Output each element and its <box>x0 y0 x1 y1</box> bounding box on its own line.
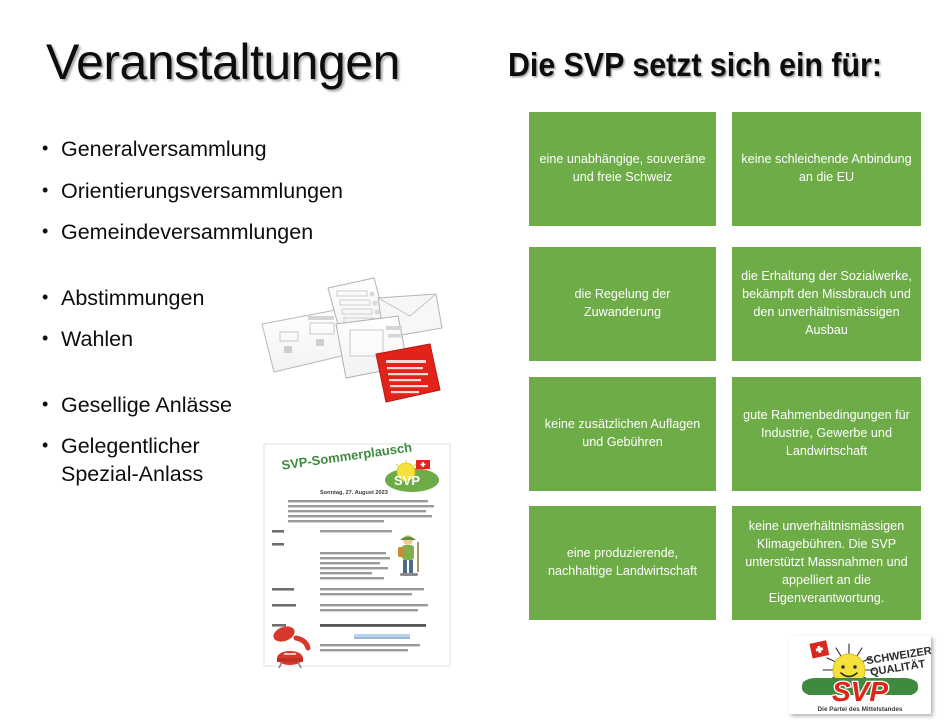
box-keine-klimagebuehren: keine unverhältnismässigen Klimagebühren… <box>732 506 921 620</box>
bullet-dot-icon: • <box>42 219 61 244</box>
list-item-label: Gemeindeversammlungen <box>61 219 472 247</box>
bullet-dot-icon: • <box>42 178 61 203</box>
box-nachhaltige-landwirtschaft: eine produzierende, nachhaltige Landwirt… <box>529 506 716 620</box>
box-text: keine unverhältnismässigen Klimagebühren… <box>740 518 913 607</box>
list-item: • Gelegentlicher Spezial-Anlass <box>42 433 242 488</box>
box-gute-rahmenbedingungen: gute Rahmenbedingungen für Industrie, Ge… <box>732 377 921 491</box>
page-title-right: Die SVP setzt sich ein für: <box>508 48 904 83</box>
svp-logo: SCHWEIZER QUALITÄT SVP Die Partei des Mi… <box>789 636 931 714</box>
bullet-dot-icon: • <box>42 326 61 351</box>
ballot-documents-illustration: Abstimmungsunterlagen: weisse Stimmzette… <box>258 268 454 406</box>
box-regelung-zuwanderung: die Regelung der Zuwanderung <box>529 247 716 361</box>
bullet-dot-icon: • <box>42 136 61 161</box>
list-item: • Gemeindeversammlungen <box>42 219 472 247</box>
box-text: keine zusätzlichen Auflagen und Gebühren <box>537 416 708 452</box>
svp-positions-grid: eine unabhängige, souveräne und freie Sc… <box>529 112 921 620</box>
box-erhaltung-sozialwerke: die Erhaltung der Sozialwerke, bekämpft … <box>732 247 921 361</box>
box-text: die Regelung der Zuwanderung <box>537 286 708 322</box>
svg-text:Sonntag, 27. August 2023: Sonntag, 27. August 2023 <box>320 490 388 496</box>
list-item: • Orientierungsversammlungen <box>42 178 472 206</box>
svg-text:SVP: SVP <box>394 473 420 488</box>
logo-party-initials: SVP <box>832 676 888 707</box>
box-text: eine produzierende, nachhaltige Landwirt… <box>537 545 708 581</box>
list-item: • Generalversammlung <box>42 136 472 164</box>
box-keine-eu-anbindung: keine schleichende Anbindung an die EU <box>732 112 921 226</box>
bullet-dot-icon: • <box>42 392 61 417</box>
list-item-label: Gelegentlicher Spezial-Anlass <box>61 433 242 488</box>
bullet-dot-icon: • <box>42 433 61 458</box>
bullet-group-versammlungen: • Generalversammlung • Orientierungsvers… <box>42 136 472 247</box>
bullet-dot-icon: • <box>42 285 61 310</box>
box-keine-auflagen-gebuehren: keine zusätzlichen Auflagen und Gebühren <box>529 377 716 491</box>
svp-sommerplausch-flyer: SVP-Sommerplausch SVP Sonntag, 27 <box>258 438 456 668</box>
list-item-label: Generalversammlung <box>61 136 472 164</box>
box-text: eine unabhängige, souveräne und freie Sc… <box>537 151 708 187</box>
list-item-label: Orientierungsversammlungen <box>61 178 472 206</box>
box-text: die Erhaltung der Sozialwerke, bekämpft … <box>740 268 913 340</box>
box-unabhaengige-schweiz: eine unabhängige, souveräne und freie Sc… <box>529 112 716 226</box>
logo-tagline: Die Partei des Mittelstandes <box>818 706 903 713</box>
box-text: gute Rahmenbedingungen für Industrie, Ge… <box>740 407 913 461</box>
page-title-left: Veranstaltungen <box>46 36 400 89</box>
slide-canvas: Veranstaltungen Die SVP setzt sich ein f… <box>0 0 946 720</box>
box-text: keine schleichende Anbindung an die EU <box>740 151 913 187</box>
